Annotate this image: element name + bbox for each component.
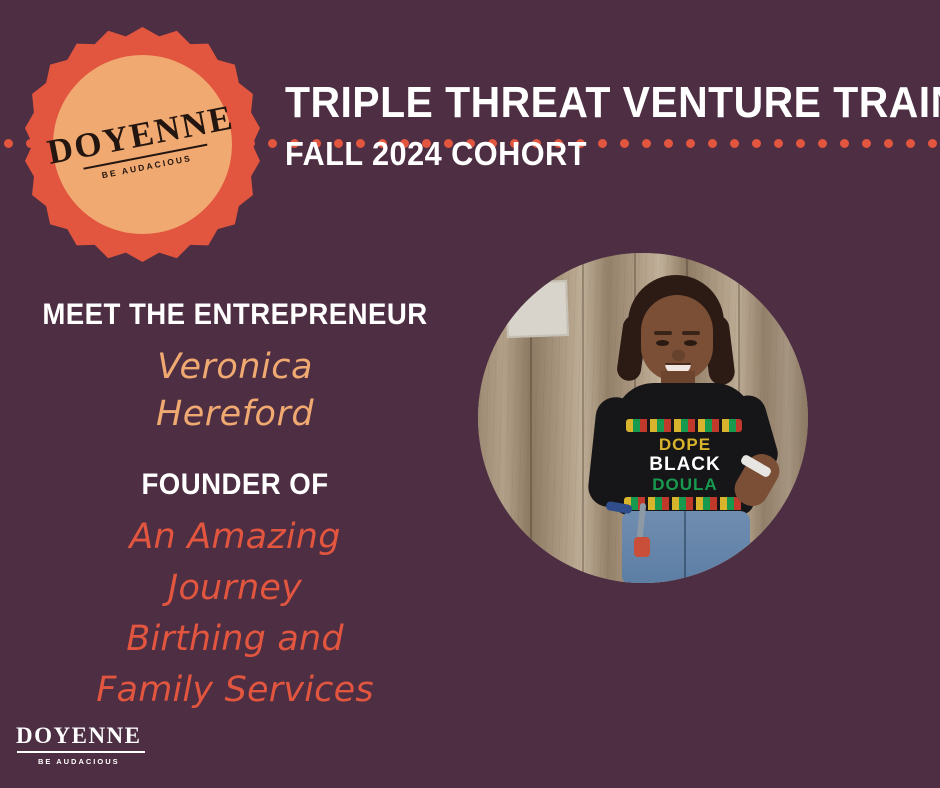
kente-trim-top (626, 419, 742, 432)
wooden-wall-background: DOPE BLACK DOULA (478, 253, 808, 583)
jeans-seam (684, 511, 686, 583)
company-name-line4: Family Services (0, 665, 470, 716)
entrepreneur-photo: DOPE BLACK DOULA (478, 253, 808, 583)
company-name-line1: An Amazing (0, 512, 470, 563)
headline-secondary: FALL 2024 COHORT (285, 136, 862, 171)
tshirt-line1: DOPE (630, 435, 740, 455)
face (641, 295, 713, 381)
eyebrow-left (654, 331, 672, 335)
tshirt-line3: DOULA (630, 475, 740, 495)
entrepreneur-name-line2: Hereford (0, 391, 470, 438)
person-figure: DOPE BLACK DOULA (584, 275, 808, 583)
eye-left (656, 340, 669, 346)
doyenne-badge-logo: DOYENNE BE AUDACIOUS (25, 27, 260, 262)
footer-doyenne-logo: DOYENNE BE AUDACIOUS (16, 724, 216, 766)
footer-wordmark: DOYENNE (16, 724, 216, 747)
entrepreneur-name: Veronica Hereford (0, 344, 470, 438)
wall-frame-decor (505, 280, 569, 338)
meet-the-entrepreneur-label: MEET THE ENTREPRENEUR (19, 298, 451, 332)
divider-dot (268, 139, 277, 148)
entrepreneur-name-line1: Veronica (0, 344, 470, 391)
headline-primary: TRIPLE THREAT VENTURE TRAINING (285, 80, 862, 126)
tshirt-line1-text: DOPE (659, 435, 711, 454)
company-name: An Amazing Journey Birthing and Family S… (0, 512, 470, 716)
badge-wordmark: DOYENNE (44, 99, 236, 169)
tshirt-graphic-text: DOPE BLACK DOULA (630, 435, 740, 495)
poster-canvas: DOYENNE BE AUDACIOUS TRIPLE THREAT VENTU… (0, 0, 940, 788)
divider-dot (4, 139, 13, 148)
divider-dot (928, 139, 937, 148)
tshirt-line2-text: BLACK (649, 454, 721, 475)
eye-right (684, 340, 697, 346)
company-name-line3: Birthing and (0, 614, 470, 665)
company-name-line2: Journey (0, 563, 470, 614)
eyebrow-right (682, 331, 700, 335)
founder-of-label: FOUNDER OF (19, 468, 451, 502)
keychain (634, 537, 650, 557)
tshirt-line3-text: DOULA (652, 475, 717, 494)
footer-tagline: BE AUDACIOUS (38, 757, 216, 766)
tshirt-line2: BLACK (630, 455, 740, 475)
entrepreneur-info-block: MEET THE ENTREPRENEUR Veronica Hereford … (0, 298, 470, 716)
headline-block: TRIPLE THREAT VENTURE TRAINING FALL 2024… (285, 80, 905, 171)
divider-dot (906, 139, 915, 148)
nose (672, 350, 685, 361)
footer-divider-rule (17, 751, 145, 753)
